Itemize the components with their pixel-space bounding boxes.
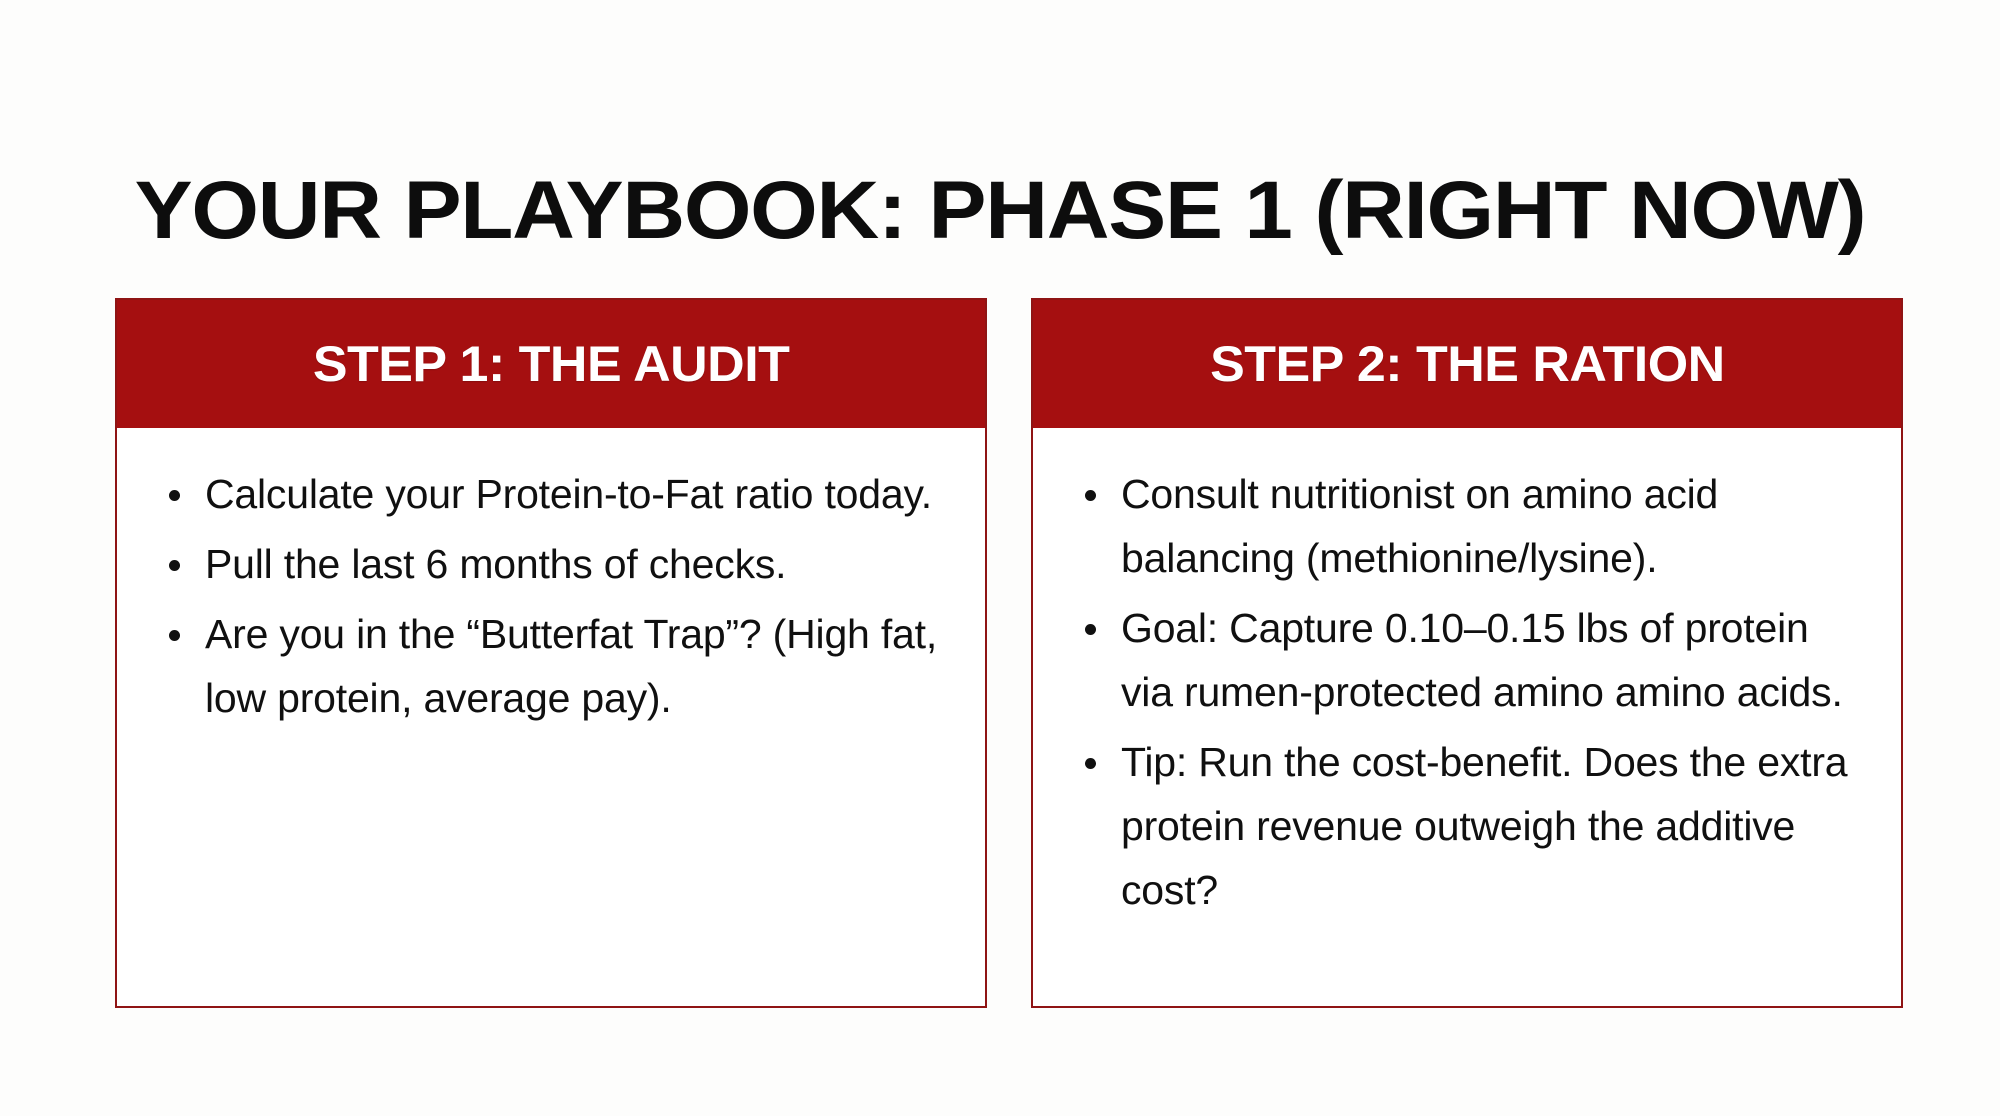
step-card-1-body: Calculate your Protein-to-Fat ratio toda… <box>115 428 987 1008</box>
slide-root: YOUR PLAYBOOK: PHASE 1 (RIGHT NOW) STEP … <box>0 0 2000 1116</box>
step-card-2-bullet-list: Consult nutritionist on amino acid balan… <box>1077 462 1867 922</box>
list-item: Are you in the “Butterfat Trap”? (High f… <box>161 602 951 730</box>
bullet-dot-icon <box>1085 624 1096 635</box>
list-item-text: Goal: Capture 0.10–0.15 lbs of protein v… <box>1121 605 1843 715</box>
step-card-2-header-label: STEP 2: THE RATION <box>1210 335 1725 393</box>
list-item: Calculate your Protein-to-Fat ratio toda… <box>161 462 951 526</box>
list-item: Tip: Run the cost-benefit. Does the extr… <box>1077 730 1867 922</box>
list-item-text: Consult nutritionist on amino acid balan… <box>1121 471 1718 581</box>
step-card-2-header: STEP 2: THE RATION <box>1031 298 1903 428</box>
step-card-1-bullet-list: Calculate your Protein-to-Fat ratio toda… <box>161 462 951 730</box>
steps-card-grid: STEP 1: THE AUDIT Calculate your Protein… <box>115 298 1903 1008</box>
bullet-dot-icon <box>1085 758 1096 769</box>
bullet-dot-icon <box>169 490 180 501</box>
bullet-dot-icon <box>169 630 180 641</box>
step-card-2: STEP 2: THE RATION Consult nutritionist … <box>1031 298 1903 1008</box>
list-item-text: Are you in the “Butterfat Trap”? (High f… <box>205 611 937 721</box>
step-card-1-header-label: STEP 1: THE AUDIT <box>313 335 790 393</box>
bullet-dot-icon <box>169 560 180 571</box>
page-title: YOUR PLAYBOOK: PHASE 1 (RIGHT NOW) <box>0 163 2000 259</box>
step-card-1: STEP 1: THE AUDIT Calculate your Protein… <box>115 298 987 1008</box>
step-card-1-header: STEP 1: THE AUDIT <box>115 298 987 428</box>
list-item-text: Calculate your Protein-to-Fat ratio toda… <box>205 471 932 517</box>
list-item: Pull the last 6 months of checks. <box>161 532 951 596</box>
list-item: Goal: Capture 0.10–0.15 lbs of protein v… <box>1077 596 1867 724</box>
list-item-text: Tip: Run the cost-benefit. Does the extr… <box>1121 739 1847 913</box>
list-item-text: Pull the last 6 months of checks. <box>205 541 786 587</box>
step-card-2-body: Consult nutritionist on amino acid balan… <box>1031 428 1903 1008</box>
bullet-dot-icon <box>1085 490 1096 501</box>
list-item: Consult nutritionist on amino acid balan… <box>1077 462 1867 590</box>
